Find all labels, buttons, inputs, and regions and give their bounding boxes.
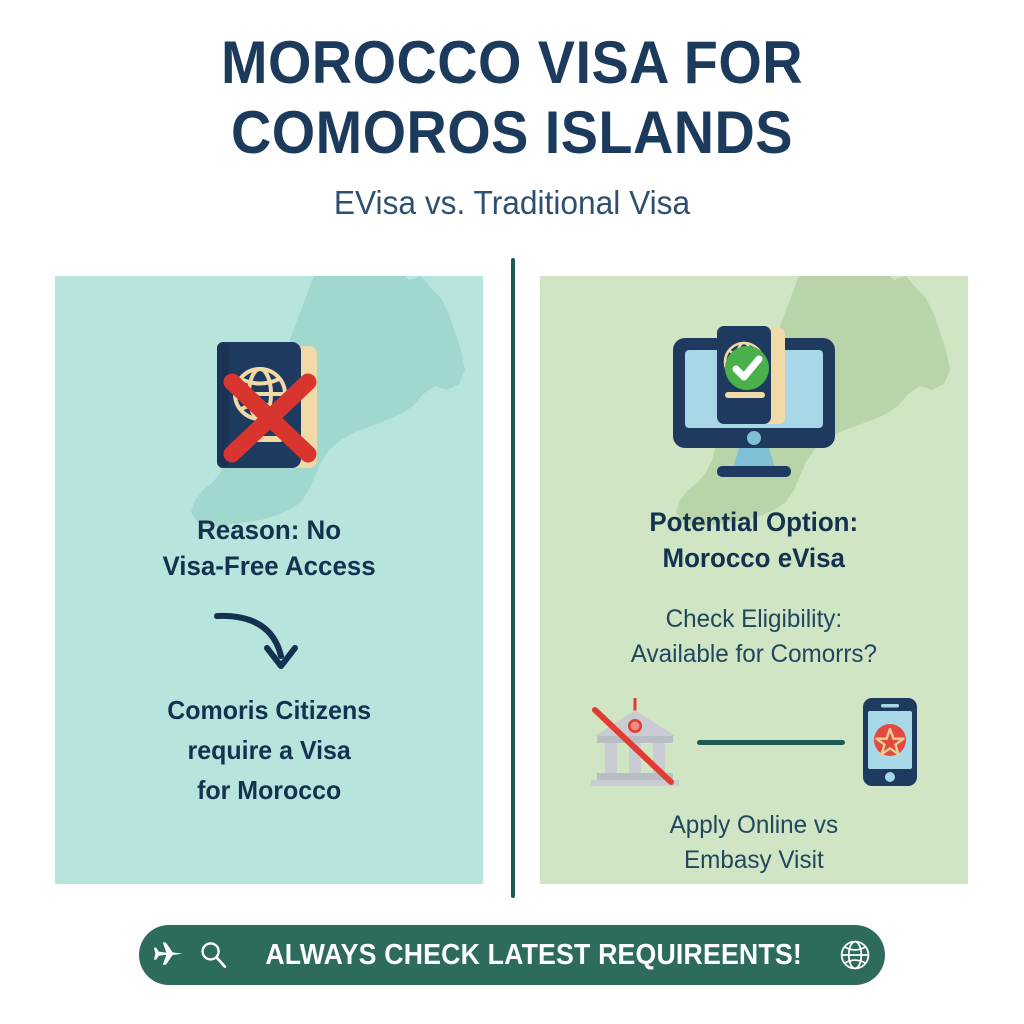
magnifier-icon [199,939,228,971]
arrow-slot [55,604,483,674]
page-subtitle: EVisa vs. Traditional Visa [20,184,1003,222]
bottom-banner[interactable]: Always Check Latest Requireents! [139,925,885,985]
right-panel-subtext-line-1: Check Eligibility: [631,602,877,637]
connector-line [697,740,845,745]
page-title-line-1: Morocco Visa for [36,28,988,98]
airplane-icon [153,939,185,971]
left-panel-body-line-3: for Morocco [167,770,371,810]
panel-morocco-evisa-option: Potential Option: Morocco eVisa Check El… [540,276,968,884]
smartphone-morocco-flag-icon [859,696,921,788]
embassy-closed-icon [587,696,683,788]
left-panel-body-line-1: Comoris Citizens [167,690,371,730]
right-panel-heading-line-1: Potential Option: [650,504,859,540]
left-panel-heading-line-1: Reason: No [162,512,375,548]
banner-text: Always Check Latest Requireents! [265,939,802,972]
right-panel-subtext: Check Eligibility: Available for Comorrs… [631,602,877,672]
curved-down-arrow-icon [209,606,329,672]
right-panel-caption: Apply Online vs Embasy Visit [670,808,838,878]
header: Morocco Visa for Comoros Islands EVisa v… [0,28,1024,222]
globe-icon [839,937,871,973]
passport-denied-icon-slot [195,332,343,482]
left-panel-heading-line-2: Visa-Free Access [162,548,375,584]
monitor-evisa-approved-icon [659,324,849,482]
panel-divider [511,258,515,898]
passport-denied-icon [195,332,343,482]
monitor-evisa-icon-slot [659,324,849,482]
left-panel-heading: Reason: No Visa-Free Access [162,512,375,584]
right-panel-heading: Potential Option: Morocco eVisa [650,504,859,576]
right-panel-caption-line-1: Apply Online vs [670,808,838,843]
right-panel-subtext-line-2: Available for Comorrs? [631,637,877,672]
left-panel-body-line-2: require a Visa [167,730,371,770]
page-title-line-2: Comoros Islands [36,98,988,168]
infographic-root: Morocco Visa for Comoros Islands EVisa v… [0,0,1024,1024]
compare-row [540,694,968,790]
left-panel-body: Comoris Citizens require a Visa for Moro… [167,690,371,810]
panel-no-visa-free-access: Reason: No Visa-Free Access Comoris Citi… [55,276,483,884]
right-panel-heading-line-2: Morocco eVisa [650,540,859,576]
right-panel-caption-line-2: Embasy Visit [670,843,838,878]
